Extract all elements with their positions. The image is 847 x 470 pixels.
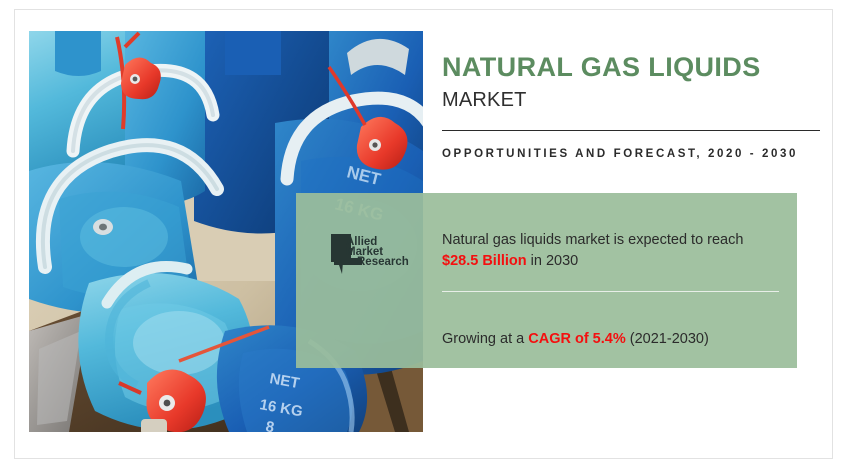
page-subtitle: MARKET: [442, 88, 820, 112]
stat-cagr-suffix: (2021-2030): [626, 331, 709, 347]
stat-cagr-value: CAGR of 5.4%: [528, 331, 626, 347]
statistics-panel: Natural gas liquids market is expected t…: [296, 193, 797, 368]
market-report-card: NET 16 KG NET 16 KG 8: [0, 0, 847, 470]
stat-cagr-prefix: Growing at a: [442, 331, 528, 347]
statistics-content: Natural gas liquids market is expected t…: [442, 193, 782, 368]
page-title: NATURAL GAS LIQUIDS: [442, 52, 820, 83]
allied-market-research-logo: Allied Market Research: [329, 232, 413, 280]
stat-market-size-value: $28.5 Billion: [442, 253, 527, 269]
header-divider: [442, 130, 820, 131]
stat-cagr: Growing at a CAGR of 5.4% (2021-2030): [442, 307, 782, 351]
stat-market-size-suffix: in 2030: [527, 253, 579, 269]
logo-line-research: Research: [357, 256, 409, 268]
panel-divider: [442, 291, 779, 292]
stat-market-size: Natural gas liquids market is expected t…: [442, 208, 782, 274]
stat-market-size-prefix: Natural gas liquids market is expected t…: [442, 232, 743, 248]
forecast-label: OPPORTUNITIES AND FORECAST, 2020 - 2030: [442, 145, 820, 164]
